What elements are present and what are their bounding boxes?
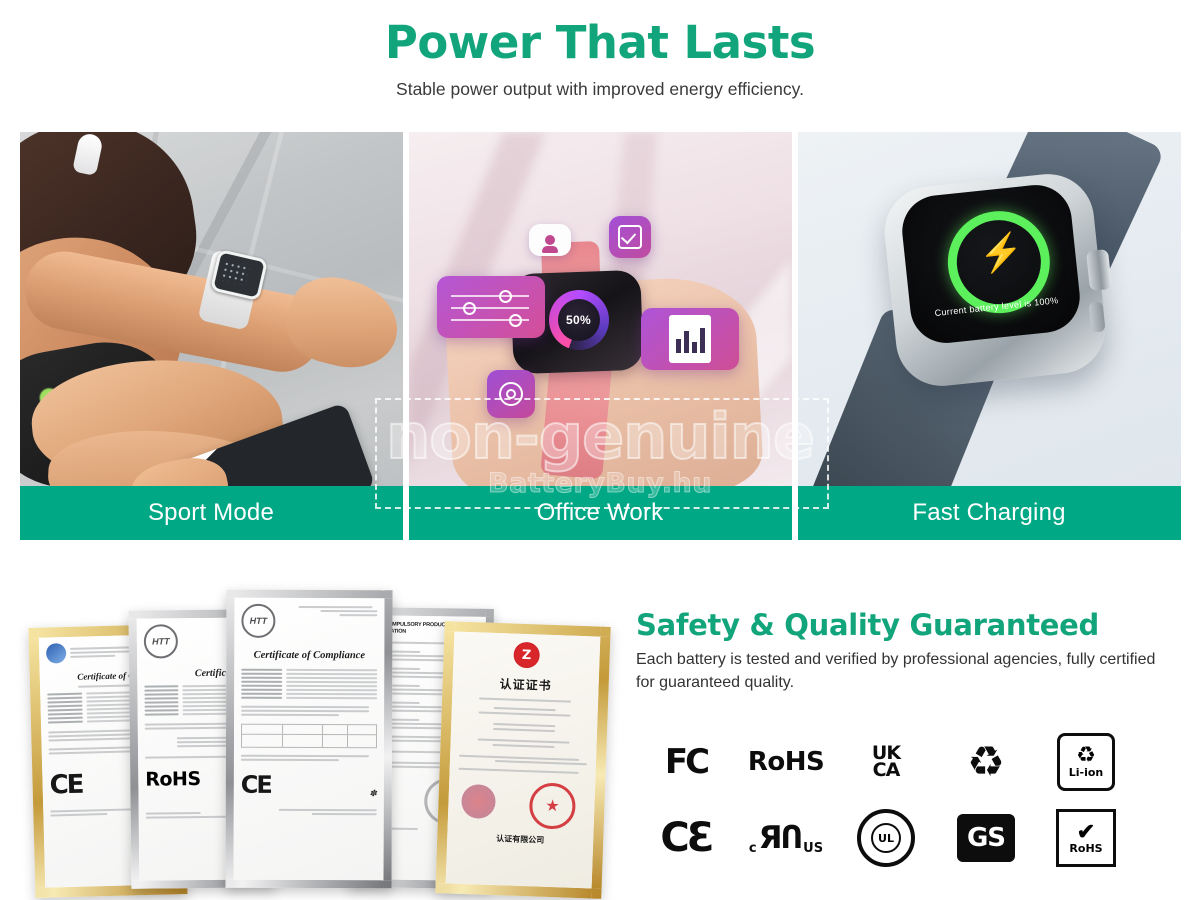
certificate-gallery: Certificate of C CE [20,578,600,878]
certification-logo-row-1: FC RoHS UK CA ♻ ♻ Li-ion [636,730,1136,794]
feature-card-fast-charging[interactable]: ⚡ Current battery level is 100% Fast Cha… [798,132,1181,540]
safety-title: Safety & Quality Guaranteed [636,608,1176,642]
certificate-chinese-system: Z 认证证书 ★ 认证有 [435,621,610,899]
cruus-icon: c ЯՈ US [736,806,836,870]
watch-side-button [1088,301,1105,332]
rohs-check-label: RoHS [1069,842,1102,855]
certification-section: Certificate of C CE [0,560,1200,900]
settings-sliders-icon [437,276,545,338]
feature-card-sport-mode[interactable]: Sport Mode [20,132,403,540]
safety-description: Each battery is tested and verified by p… [636,649,1176,694]
fcc-icon-label: FC [665,742,707,782]
battery-ring: 50% [549,290,609,350]
certificate-of-compliance: HTT Certificate of Compliance [225,590,392,889]
page-title: Power That Lasts [0,18,1200,68]
office-work-photo: 50% [409,132,792,486]
rohs-check-icon: ✔ RoHS [1036,806,1136,870]
feature-card-office-work[interactable]: 50% Office Work [409,132,792,540]
ce-icon: CƐ [636,806,736,870]
htt-badge: HTT [144,624,178,658]
li-ion-recycle-icon: ♻ Li-ion [1036,730,1136,794]
htt-badge: HTT [241,604,275,638]
feature-card-label-fast-charging: Fast Charging [798,486,1181,540]
contact-card-icon [529,224,571,256]
cruus-icon-suffix: US [803,841,823,856]
gs-icon: GS [936,806,1036,870]
cruus-icon-label: ЯՈ [759,820,802,856]
page-header: Power That Lasts Stable power output wit… [0,0,1200,100]
certification-logo-row-2: CƐ c ЯՈ US UL GS ✔ [636,806,1136,870]
watch-screen: ⚡ Current battery level is 100% [898,182,1083,347]
ul-registered-icon: UL [836,806,936,870]
feature-card-row: Sport Mode 50% [0,132,1200,540]
ce-mark: CE [241,771,271,799]
gear-icon [487,370,535,418]
rohs-icon-label: RoHS [748,747,824,777]
li-ion-recycle-symbol: ♻ [1076,745,1096,765]
sport-mode-photo [20,132,403,486]
rohs-check-glyph: ✔ [1077,822,1095,842]
fast-charging-photo: ⚡ Current battery level is 100% [798,132,1181,486]
page-subtitle: Stable power output with improved energy… [0,79,1200,100]
li-ion-recycle-label: Li-ion [1069,766,1104,779]
gs-icon-label: GS [957,814,1015,862]
certification-logo-grid: FC RoHS UK CA ♻ ♻ Li-ion [636,730,1136,882]
lightning-bolt-icon: ⚡ [977,233,1025,273]
ul-registered-icon-label: UL [871,823,901,853]
rohs-icon: RoHS [736,730,836,794]
feature-card-label-sport-mode: Sport Mode [20,486,403,540]
ce-mark: CE [49,770,83,801]
recycle-icon-glyph: ♻ [967,741,1005,783]
fcc-icon: FC [636,730,736,794]
feature-card-label-office-work: Office Work [409,486,792,540]
ce-icon-label: CƐ [660,815,711,861]
recycle-icon: ♻ [936,730,1036,794]
bar-chart-icon [641,308,739,370]
ukca-icon-label-bottom: CA [872,762,900,779]
certificate-title: 认证证书 [461,674,590,695]
safety-block: Safety & Quality Guaranteed Each battery… [636,608,1176,694]
cruus-icon-prefix: c [749,841,757,856]
ukca-icon: UK CA [836,730,936,794]
battery-ring-value: 50% [566,313,591,327]
marketing-page: Power That Lasts Stable power output wit… [0,0,1200,900]
watch-crown [1085,249,1111,291]
checkbox-icon [609,216,651,258]
certificate-title: Certificate of Compliance [241,650,377,661]
